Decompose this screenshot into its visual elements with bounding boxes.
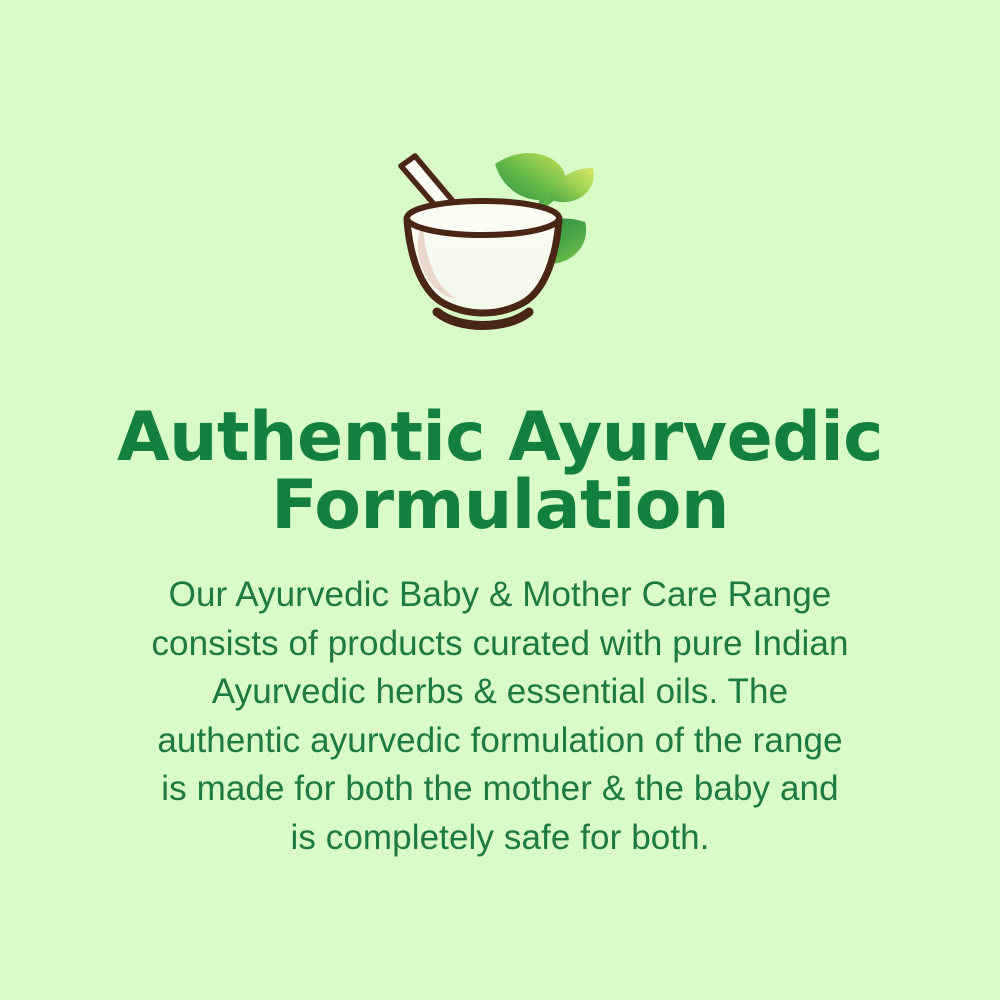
page-title: Authentic Ayurvedic Formulation (0, 404, 1000, 540)
logo-mortar-bowl (407, 201, 559, 313)
promo-card: Authentic Ayurvedic Formulation Our Ayur… (0, 0, 1000, 1000)
description-line-2: consists of products curated with pure I… (60, 620, 940, 669)
page-title-line-2: Formulation (40, 472, 960, 540)
description-line-3: Ayurvedic herbs & essential oils. The (60, 668, 940, 717)
mortar-and-pestle-icon (385, 140, 615, 335)
description-line-4: authentic ayurvedic formulation of the r… (60, 717, 940, 766)
description-paragraph: Our Ayurvedic Baby & Mother Care Range c… (0, 571, 1000, 862)
description-line-6: is completely safe for both. (60, 814, 940, 863)
page-title-line-1: Authentic Ayurvedic (40, 404, 960, 472)
description-line-1: Our Ayurvedic Baby & Mother Care Range (60, 571, 940, 620)
description-line-5: is made for both the mother & the baby a… (60, 765, 940, 814)
